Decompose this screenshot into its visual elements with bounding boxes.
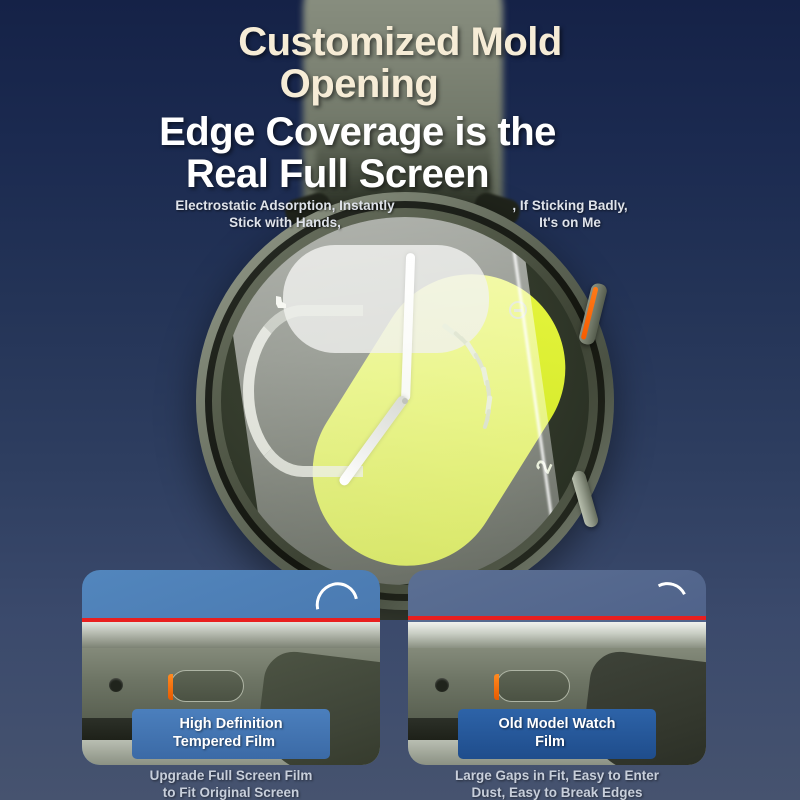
caption-old-line1: Large Gaps in Fit, Easy to Enter [408,768,706,785]
hands-center-pin [402,398,408,404]
headline-main-line2: Real Full Screen [0,154,800,195]
badge-good-line2: Tempered Film [126,734,322,751]
badge-good-line1: High Definition [179,716,282,732]
caption-good-line1: Upgrade Full Screen Film [82,768,380,785]
badge-old: Old Model Watch Film [458,709,656,759]
subtitle-left-line1: Electrostatic Adsorption, Instantly [160,197,410,214]
comparison-panel-old: Old Model Watch Film [408,570,706,765]
sensor-hole-icon-old [435,678,449,692]
subtitle-left-line2: Stick with Hands, [160,214,410,231]
headline-top: Customized Mold Opening [0,22,800,104]
badge-old-line2: Film [452,734,648,751]
caption-old-line2: Dust, Easy to Break Edges [408,785,706,800]
side-button-closeup [170,670,244,702]
headline-main-line1: Edge Coverage is the [0,112,800,153]
subtitle-right: , If Sticking Badly, It's on Me [470,197,670,232]
caption-old: Large Gaps in Fit, Easy to Enter Dust, E… [408,768,706,800]
comparison-panel-good: High Definition Tempered Film [82,570,380,765]
caption-good-line2: to Fit Original Screen [82,785,380,800]
badge-good: High Definition Tempered Film [132,709,330,759]
caption-good: Upgrade Full Screen Film to Fit Original… [82,768,380,800]
case-edge-highlight-old [408,622,706,648]
watch-dial: 3,457 2 [221,217,589,585]
promo-stage: 3,457 2 [0,0,800,800]
headline-main: Edge Coverage is the Real Full Screen [0,112,800,195]
headline-top-line2: Opening [0,64,800,104]
subtitle-right-line1: , If Sticking Badly, [470,197,670,214]
sensor-hole-icon [109,678,123,692]
subtitle-left: Electrostatic Adsorption, Instantly Stic… [160,197,410,232]
side-button-closeup-old [496,670,570,702]
subtitle-right-line2: It's on Me [470,214,670,231]
badge-old-line1: Old Model Watch [498,716,615,732]
headline-top-line1: Customized Mold [0,22,800,62]
